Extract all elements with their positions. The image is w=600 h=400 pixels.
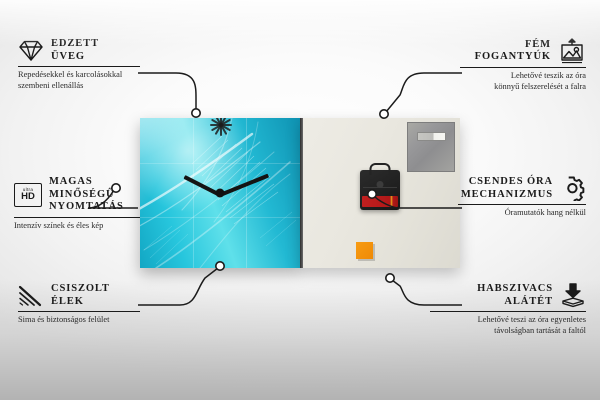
callout-rule <box>18 66 140 67</box>
callout-edzett-uveg[interactable]: EDZETT ÜVEG Repedésekkel és karcolásokka… <box>18 38 140 91</box>
callout-subtitle-line1: Óramutatók hang nélkül <box>458 208 586 219</box>
diamond-icon <box>18 39 44 62</box>
callout-habszivacs-alatet[interactable]: HABSZIVACS ALÁTÉT Lehetővé teszi az óra … <box>430 283 586 336</box>
callout-subtitle-line1: Sima és biztonságos felület <box>18 315 140 326</box>
callout-header: CSENDES ÓRA MECHANIZMUS <box>458 176 586 201</box>
clock-side-edge <box>300 118 303 268</box>
callout-title-line2: FOGANTYÚK <box>475 51 551 64</box>
product-images <box>140 118 460 268</box>
callout-title-line1: MAGAS MINŐSÉGŰ <box>49 176 140 201</box>
callout-rule <box>18 311 140 312</box>
callout-subtitle-line2: szembeni ellenállás <box>18 81 140 92</box>
picture-hanger-icon <box>558 38 586 64</box>
clock-movement <box>360 170 400 210</box>
callout-title-line1: FÉM <box>475 39 551 52</box>
callout-subtitle-line2: könnyű felszerelését a falra <box>460 82 586 93</box>
foam-pad <box>356 242 373 259</box>
callout-title-line1: HABSZIVACS <box>477 283 553 296</box>
leader-dot-edzett-uveg <box>192 109 200 117</box>
callout-subtitle-line2: távolságban tartását a faltól <box>430 326 586 337</box>
callout-title-line1: EDZETT <box>51 38 99 51</box>
callout-csendes-ora-mechanizmus[interactable]: CSENDES ÓRA MECHANIZMUS Óramutatók hang … <box>458 176 586 219</box>
callout-title-line2: ALÁTÉT <box>477 296 553 309</box>
leader-dot-habszivacs <box>386 274 394 282</box>
callout-title-line2: ÜVEG <box>51 51 99 64</box>
leader-dot-fem-fogantyuk <box>380 110 388 118</box>
callout-header: ultra HD MAGAS MINŐSÉGŰ NYOMTATÁS <box>14 176 140 214</box>
ultra-hd-icon: ultra HD <box>14 183 42 207</box>
callout-header: HABSZIVACS ALÁTÉT <box>430 283 586 308</box>
callout-header: CSISZOLT ÉLEK <box>18 283 140 308</box>
callout-header: EDZETT ÜVEG <box>18 38 140 63</box>
callout-fem-fogantyuk[interactable]: FÉM FOGANTYÚK Lehetővé teszik az óra kön… <box>460 38 586 92</box>
foam-pad-arrow-icon <box>560 283 586 308</box>
callout-subtitle-line1: Repedésekkel és karcolásokkal <box>18 70 140 81</box>
clock-center-cap <box>216 189 225 198</box>
callout-rule <box>430 311 586 312</box>
metal-hanger-plate <box>407 122 455 172</box>
callout-title-line2: ÉLEK <box>51 296 110 309</box>
callout-rule <box>460 67 586 68</box>
gear-icon <box>560 176 586 201</box>
callout-rule <box>14 217 140 218</box>
movement-shaft <box>377 181 384 188</box>
infographic-canvas: EDZETT ÜVEG Repedésekkel és karcolásokka… <box>0 0 600 400</box>
wall-clock-front <box>140 118 300 268</box>
callout-rule <box>458 204 586 205</box>
callout-title-line2: MECHANIZMUS <box>461 189 553 202</box>
ultra-hd-big-label: HD <box>21 192 35 202</box>
callout-csiszolt-elek[interactable]: CSISZOLT ÉLEK Sima és biztonságos felüle… <box>18 283 140 326</box>
callout-magas-minosegu-nyomtatas[interactable]: ultra HD MAGAS MINŐSÉGŰ NYOMTATÁS Intenz… <box>14 176 140 231</box>
callout-title-line2: NYOMTATÁS <box>49 201 140 214</box>
callout-subtitle-line1: Lehetővé teszik az óra <box>460 71 586 82</box>
movement-hanger-loop <box>370 163 391 175</box>
callout-header: FÉM FOGANTYÚK <box>460 38 586 64</box>
polished-edges-icon <box>18 284 44 307</box>
callout-title-line1: CSENDES ÓRA <box>461 176 553 189</box>
callout-subtitle-line1: Lehetővé teszi az óra egyenletes <box>430 315 586 326</box>
movement-red-label <box>362 196 398 207</box>
hanger-slot <box>417 132 446 141</box>
callout-title-line1: CSISZOLT <box>51 283 110 296</box>
wall-clock-back <box>300 118 460 268</box>
callout-subtitle-line1: Intenzív színek és éles kép <box>14 221 140 232</box>
